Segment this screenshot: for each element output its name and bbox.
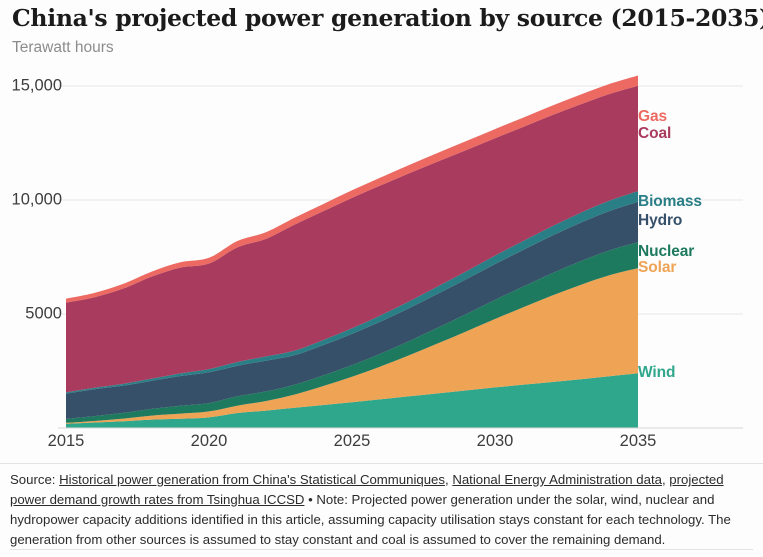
chart-page: China's projected power generation by so…: [0, 0, 763, 557]
y-axis-tick-label: 10,000: [12, 191, 62, 210]
chart-header: China's projected power generation by so…: [12, 4, 753, 57]
source-label: Source:: [10, 472, 59, 487]
x-axis-tick-label: 2030: [477, 432, 514, 451]
x-axis-tick-label: 2025: [334, 432, 371, 451]
chart-footnote: Source: Historical power generation from…: [10, 470, 750, 550]
legend-label-wind: Wind: [638, 364, 675, 382]
legend-label-solar: Solar: [638, 259, 676, 277]
area-series-group: [66, 76, 638, 428]
x-axis-tick-label: 2015: [48, 432, 85, 451]
y-axis-tick-label: 5000: [25, 305, 62, 324]
footer-divider-bottom: [10, 549, 753, 550]
legend-label-coal: Coal: [638, 125, 671, 143]
chart-subtitle: Terawatt hours: [12, 39, 753, 57]
y-axis: 15,00010,0005000: [0, 70, 62, 450]
legend-label-gas: Gas: [638, 108, 667, 126]
chart-legend: GasCoalBiomassHydroNuclearSolarWind: [638, 70, 763, 450]
source-link-statistical-communiques[interactable]: Historical power generation from China's…: [59, 472, 445, 487]
x-axis-tick-label: 2020: [191, 432, 228, 451]
footer-divider-top: [0, 463, 763, 464]
legend-label-hydro: Hydro: [638, 212, 682, 230]
y-axis-tick-label: 15,000: [12, 77, 62, 96]
source-link-nea-data[interactable]: National Energy Administration data: [452, 472, 662, 487]
legend-label-biomass: Biomass: [638, 193, 702, 211]
page-title: China's projected power generation by so…: [12, 4, 753, 32]
